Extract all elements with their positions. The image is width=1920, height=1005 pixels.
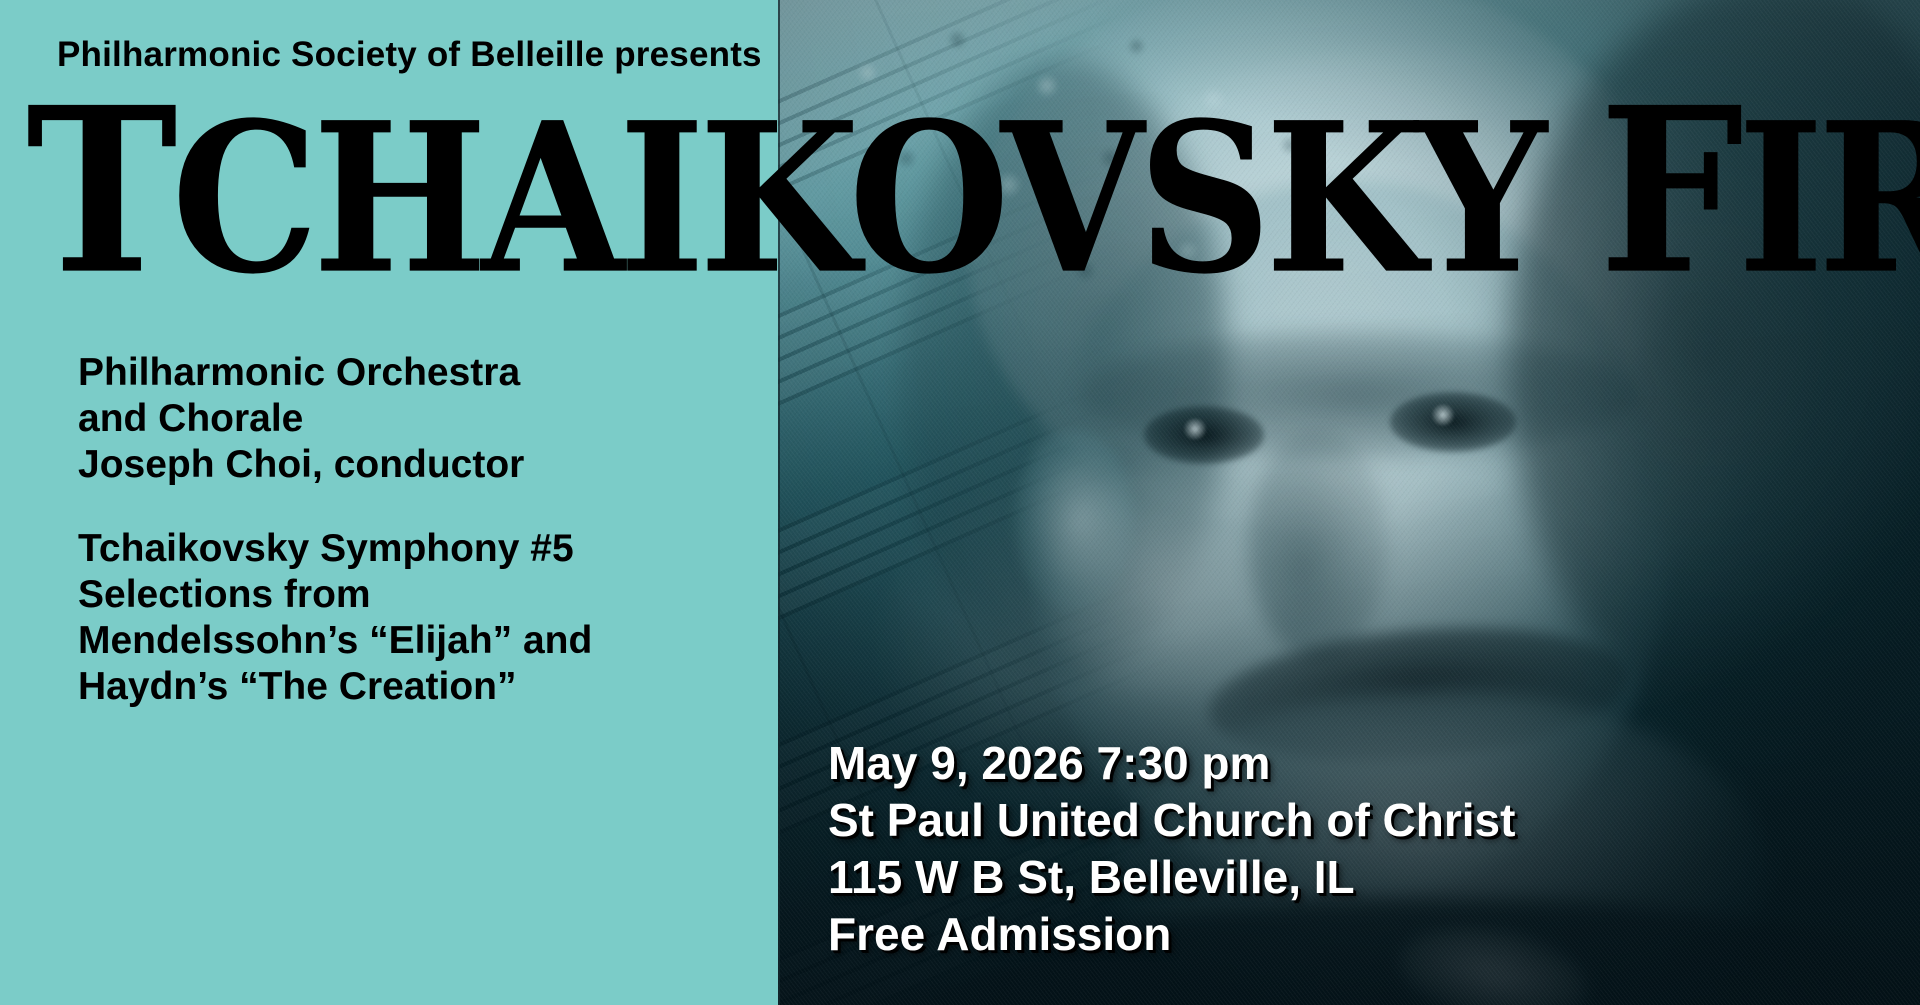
repertoire-line: Selections from <box>78 572 592 618</box>
event-venue: St Paul United Church of Christ <box>828 792 1515 849</box>
ensemble-line: Philharmonic Orchestra <box>78 350 592 396</box>
repertoire-line: Mendelssohn’s “Elijah” and <box>78 618 592 664</box>
repertoire-line: Tchaikovsky Symphony #5 <box>78 526 592 572</box>
repertoire-line: Haydn’s “The Creation” <box>78 664 592 710</box>
title-word1-initial: T <box>26 58 171 325</box>
title-word2-initial: F <box>1599 58 1737 325</box>
concert-poster: Philharmonic Society of Belleille presen… <box>0 0 1920 1005</box>
ensemble-group: Philharmonic Orchestra and Chorale Josep… <box>78 350 592 488</box>
title-word2-rest: IREWORKS <box>1738 77 1920 319</box>
program-info-block: Philharmonic Orchestra and Chorale Josep… <box>78 350 592 710</box>
event-datetime: May 9, 2026 7:30 pm <box>828 735 1515 792</box>
repertoire-group: Tchaikovsky Symphony #5 Selections from … <box>78 526 592 710</box>
title-word1-rest: CHAIKOVSKY <box>171 77 1540 319</box>
event-admission: Free Admission <box>828 906 1515 963</box>
ensemble-line: and Chorale <box>78 396 592 442</box>
page-title: TCHAIKOVSKY FIREWORKS <box>26 92 1920 292</box>
conductor-line: Joseph Choi, conductor <box>78 442 592 488</box>
event-details-block: May 9, 2026 7:30 pm St Paul United Churc… <box>828 735 1515 963</box>
event-address: 115 W B St, Belleville, IL <box>828 849 1515 906</box>
